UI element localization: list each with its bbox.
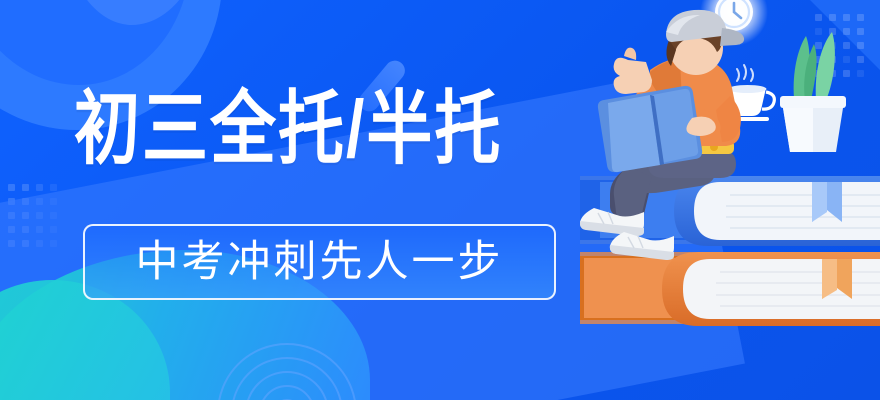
orange-book: [580, 252, 880, 326]
circle-blob-middle: [0, 0, 190, 85]
circle-blob-inner: [60, 0, 210, 25]
page-title: 初三全托/半托: [74, 88, 502, 169]
dot-grid-left-icon: [8, 184, 57, 247]
subtitle-text: 中考冲刺先人一步: [136, 241, 504, 284]
concentric-rings-icon: [212, 338, 362, 400]
promo-banner: 初三全托/半托 中考冲刺先人一步: [0, 0, 880, 400]
student-illustration: [580, 0, 880, 400]
subtitle-box: 中考冲刺先人一步: [83, 224, 556, 300]
potted-plant-icon: [780, 32, 846, 152]
